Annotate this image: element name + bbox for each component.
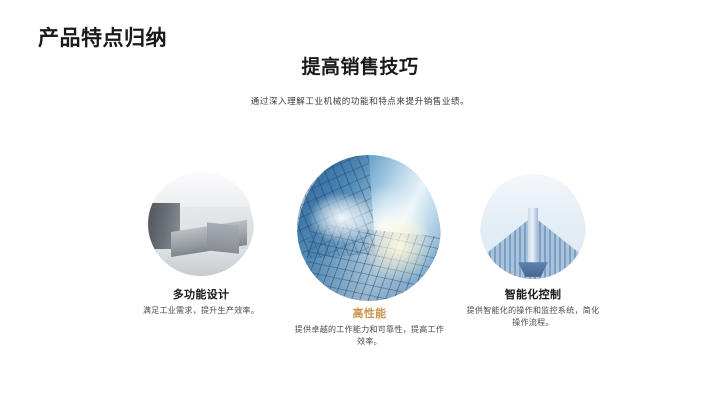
blue-skyscraper-image (297, 155, 441, 301)
feature-card-smart-control[interactable]: 智能化控制 提供智能化的操作和监控系统，简化操作流程。 (480, 174, 586, 279)
feature-caption-three: 智能化控制 提供智能化的操作和监控系统，简化操作流程。 (463, 288, 603, 330)
feature-caption-two: 高性能 提供卓越的工作能力和可靠性，提高工作效率。 (292, 307, 447, 349)
image-cloud-layer (309, 193, 375, 243)
page-subtitle: 通过深入理解工业机械的功能和特点来提升销售业绩。 (0, 96, 720, 108)
feature-caption-one: 多功能设计 满足工业需求，提升生产效率。 (131, 288, 271, 317)
feature-image-frame-three (480, 174, 586, 279)
feature-image-frame-one (148, 172, 254, 276)
feature-image-frame-two (297, 155, 441, 301)
feature-card-multifunction[interactable]: 多功能设计 满足工业需求，提升生产效率。 (148, 172, 254, 276)
slide-canvas: 产品特点归纳 提高销售技巧 通过深入理解工业机械的功能和特点来提升销售业绩。 多… (0, 0, 720, 404)
feature-description-three: 提供智能化的操作和监控系统，简化操作流程。 (463, 305, 603, 330)
feature-description-two: 提供卓越的工作能力和可靠性，提高工作效率。 (292, 324, 447, 349)
image-wall-layer (207, 222, 239, 253)
feature-card-high-performance[interactable]: 高性能 提供卓越的工作能力和可靠性，提高工作效率。 (297, 155, 441, 301)
feature-title-two: 高性能 (292, 307, 447, 322)
slide-corner-title: 产品特点归纳 (38, 26, 167, 51)
grayscale-architecture-image (148, 172, 254, 276)
page-title: 提高销售技巧 (0, 56, 720, 80)
pale-blue-building-image (480, 174, 586, 279)
image-sun-flare-layer (369, 219, 441, 280)
feature-title-one: 多功能设计 (131, 288, 271, 303)
feature-title-three: 智能化控制 (463, 288, 603, 303)
feature-description-one: 满足工业需求，提升生产效率。 (131, 305, 271, 317)
image-sky-layer (148, 172, 254, 207)
